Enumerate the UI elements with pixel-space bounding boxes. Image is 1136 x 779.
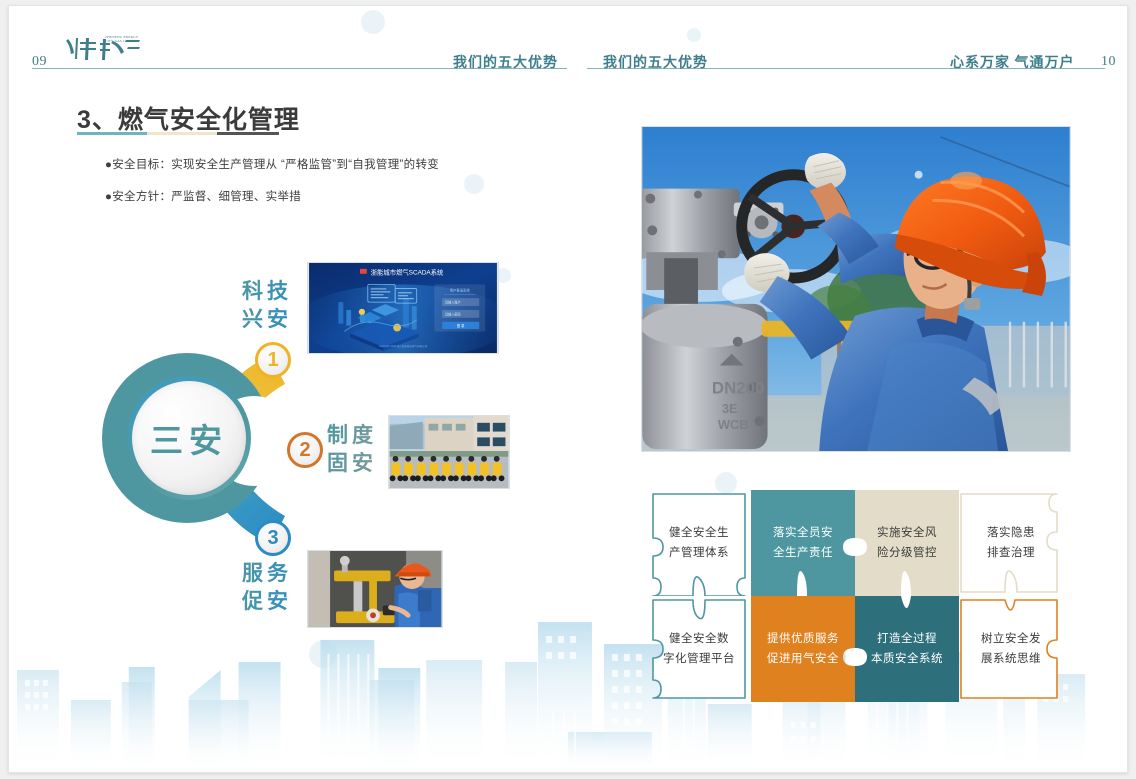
page-header: 09 ZHENENG ENERGY CITY GAS CO. LTD 我们的五大… [9, 6, 1127, 76]
title-underline-sand [147, 132, 217, 135]
flow-box-4-line2: 排查治理 [987, 543, 1035, 563]
diagram-label-1: 科技 兴安 [242, 278, 292, 334]
flow-box-3[interactable]: 实施安全风 险分级管控 [855, 490, 959, 596]
flow-box-1-line1: 健全安全生 [669, 523, 729, 543]
photo-scada-login: 浙能城市燃气SCADA系统 [307, 262, 499, 354]
scada-title: 浙能城市燃气SCADA系统 [371, 267, 444, 276]
flow-box-1-line2: 产管理体系 [669, 543, 729, 563]
photo-scooter-fleet [388, 415, 510, 489]
svg-text:WCB: WCB [718, 417, 749, 432]
diagram-badge-2[interactable]: 2 [287, 432, 323, 468]
slide-page: 09 ZHENENG ENERGY CITY GAS CO. LTD 我们的五大… [8, 5, 1128, 773]
photo-valve-operation: DN200 3E WCB [641, 126, 1071, 452]
svg-text:DN200: DN200 [712, 378, 765, 397]
flow-box-6-line1: 提供优质服务 [767, 629, 839, 649]
photo-pipeline-inspection [307, 550, 443, 628]
flow-box-5-line2: 字化管理平台 [663, 649, 735, 669]
flow-box-3-line2: 险分级管控 [877, 543, 937, 563]
scada-panel-heading: 用户登录系统 [450, 287, 471, 292]
safety-measures-flow: 健全安全生 产管理体系 落实全员安 全生产责任 实施安全风 险分级管控 [647, 490, 1065, 702]
deco-circle [464, 174, 484, 194]
diagram-label-2: 制度 固安 [327, 422, 377, 478]
flow-box-3-line1: 实施安全风 [877, 523, 937, 543]
bullet-safety-policy: ●安全方针：严监督、细管理、实举措 [105, 188, 301, 204]
bullet-safety-goal: ●安全目标：实现安全生产管理从 “严格监管”到“自我管理”的转变 [105, 156, 439, 172]
title-underline-teal [77, 132, 147, 135]
badge-3-number: 3 [267, 527, 278, 550]
flow-box-5[interactable]: 健全安全数 字化管理平台 [647, 596, 751, 702]
scada-username-field: 请输入账户 [445, 300, 461, 305]
flow-box-8-line1: 树立安全发 [981, 629, 1041, 649]
flow-box-8-line2: 展系统思维 [981, 649, 1041, 669]
scada-password-field: 请输入密码 [445, 311, 461, 316]
flow-box-1[interactable]: 健全安全生 产管理体系 [647, 490, 751, 596]
flow-box-2[interactable]: 落实全员安 全生产责任 [751, 490, 855, 596]
flow-box-7-line2: 本质安全系统 [871, 649, 943, 669]
badge-1-number: 1 [267, 349, 278, 372]
flow-box-5-line1: 健全安全数 [663, 629, 735, 649]
logo-english-text: ZHENENG ENERGY CITY GAS CO. LTD [105, 35, 138, 43]
diagram-core-label: 三安 [150, 414, 228, 462]
flow-box-4[interactable]: 落实隐患 排查治理 [959, 490, 1063, 596]
flow-box-2-line1: 落实全员安 [773, 523, 833, 543]
scada-login-button: 登 录 [457, 323, 465, 328]
flow-box-8[interactable]: 树立安全发 展系统思维 [959, 596, 1063, 702]
header-slogan: 心系万家 气通万户 [950, 52, 1075, 72]
diagram-badge-3[interactable]: 3 [255, 520, 291, 556]
diagram-badge-1[interactable]: 1 [255, 342, 291, 378]
section-title: 3、燃气安全化管理 [77, 100, 300, 136]
diagram-label-3: 服务 促安 [242, 560, 292, 616]
flow-box-7[interactable]: 打造全过程 本质安全系统 [855, 596, 959, 702]
svg-text:3E: 3E [722, 401, 738, 416]
page-number-right: 10 [1101, 54, 1116, 70]
diagram-core-circle: 三安 [127, 376, 251, 500]
badge-2-number: 2 [299, 439, 310, 462]
scada-footer: Copyright 2020 浙江浙能城市燃气有限公司 [379, 344, 428, 348]
flow-box-6[interactable]: 提供优质服务 促进用气安全 [751, 596, 855, 702]
header-title-right: 我们的五大优势 [603, 52, 708, 72]
flow-box-6-line2: 促进用气安全 [767, 649, 839, 669]
header-title-left: 我们的五大优势 [453, 52, 558, 72]
flow-box-4-line1: 落实隐患 [987, 523, 1035, 543]
flow-box-2-line2: 全生产责任 [773, 543, 833, 563]
flow-box-7-line1: 打造全过程 [871, 629, 943, 649]
title-underline-dark [217, 132, 279, 135]
